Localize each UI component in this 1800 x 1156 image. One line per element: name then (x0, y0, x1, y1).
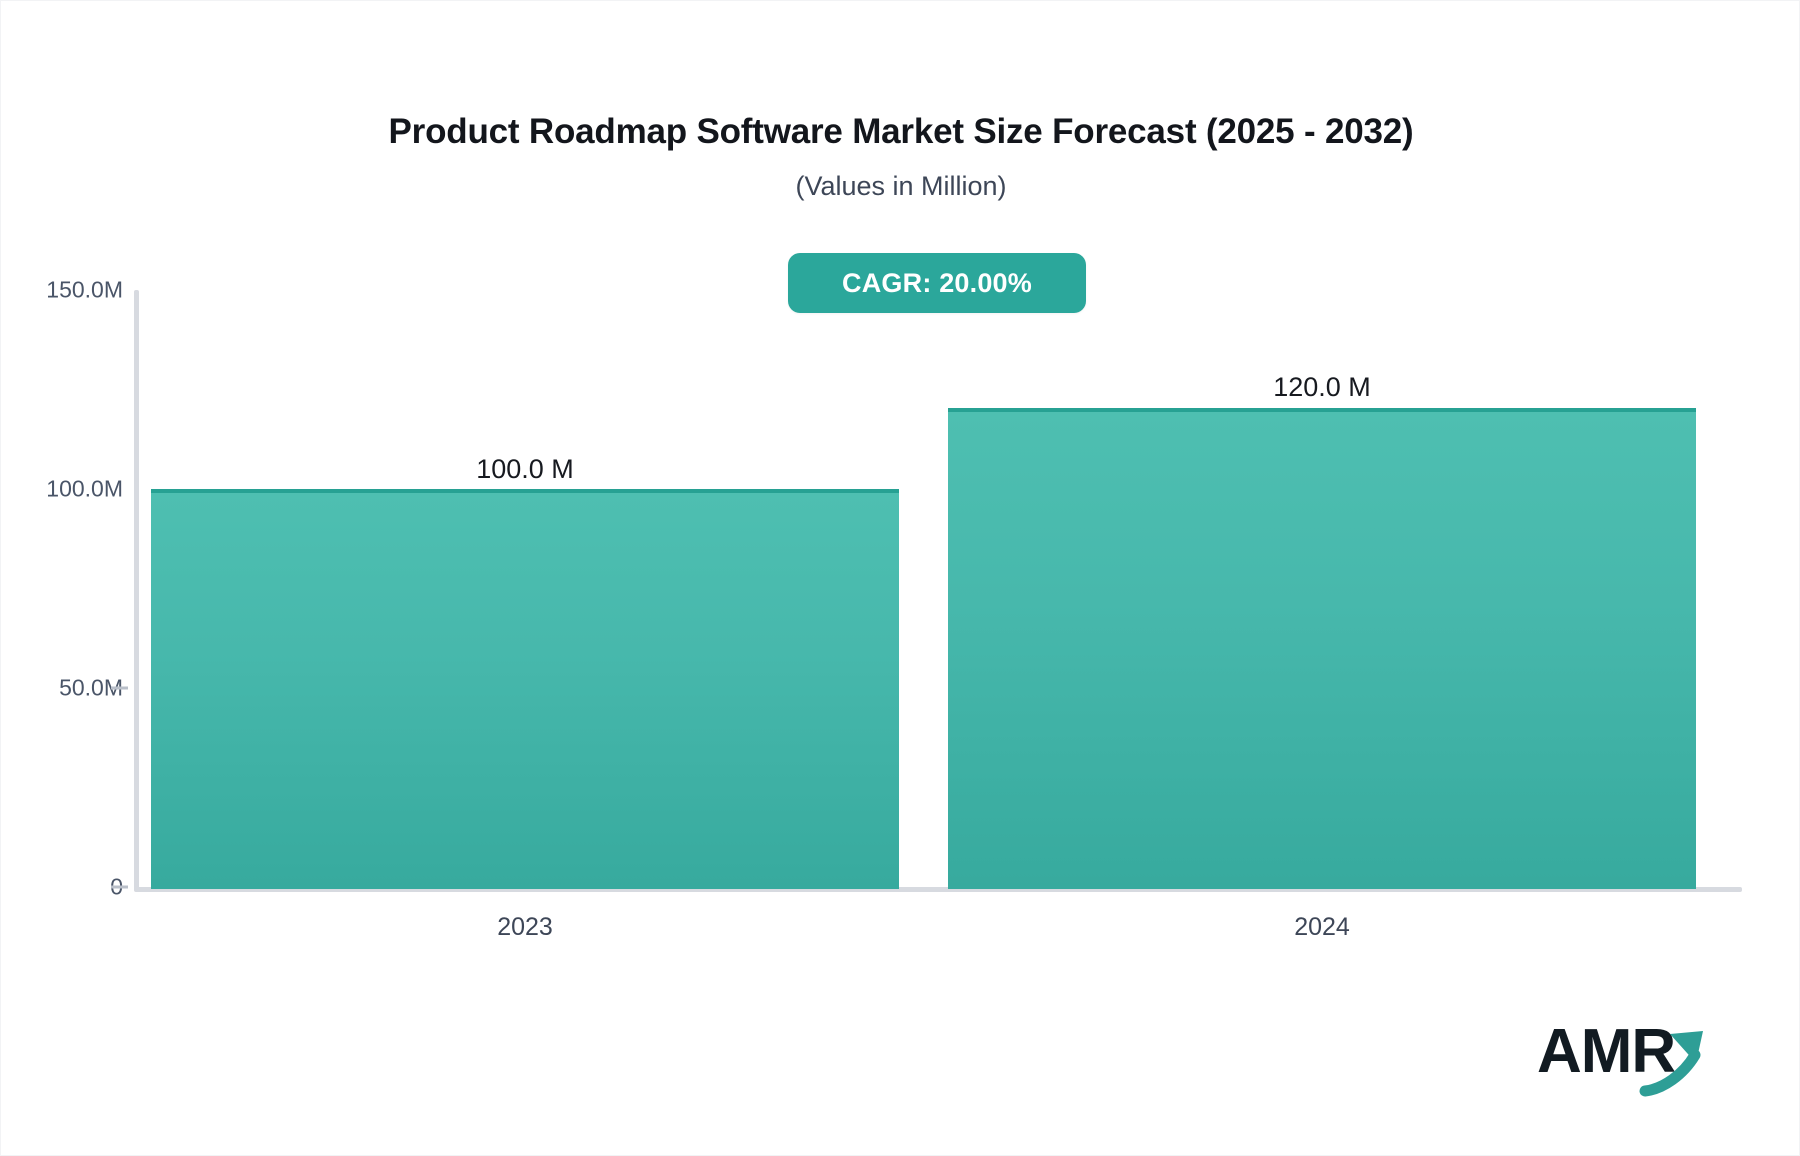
x-tick-label-2024: 2024 (948, 915, 1696, 940)
bar-2024[interactable] (948, 408, 1696, 889)
growth-arrow-icon (1537, 1013, 1737, 1105)
y-axis-line (134, 290, 139, 890)
bar-2023[interactable] (151, 489, 899, 889)
y-tick-label: 100.0M (3, 478, 123, 501)
y-tick-label: 0 (3, 876, 123, 899)
bar-value-label-2024: 120.0 M (948, 374, 1696, 401)
x-tick-label-2023: 2023 (151, 915, 899, 940)
plot-area: 150.0M 100.0M 50.0M 0 100.0 M 2023 120.0… (1, 1, 1800, 1156)
y-tick-mark (111, 886, 128, 889)
amr-logo: AMR (1537, 1013, 1737, 1105)
y-tick-label: 50.0M (3, 677, 123, 700)
y-tick-label: 150.0M (3, 279, 123, 302)
chart-canvas: Product Roadmap Software Market Size For… (0, 0, 1800, 1156)
y-tick-mark (111, 687, 128, 690)
bar-value-label-2023: 100.0 M (151, 456, 899, 483)
